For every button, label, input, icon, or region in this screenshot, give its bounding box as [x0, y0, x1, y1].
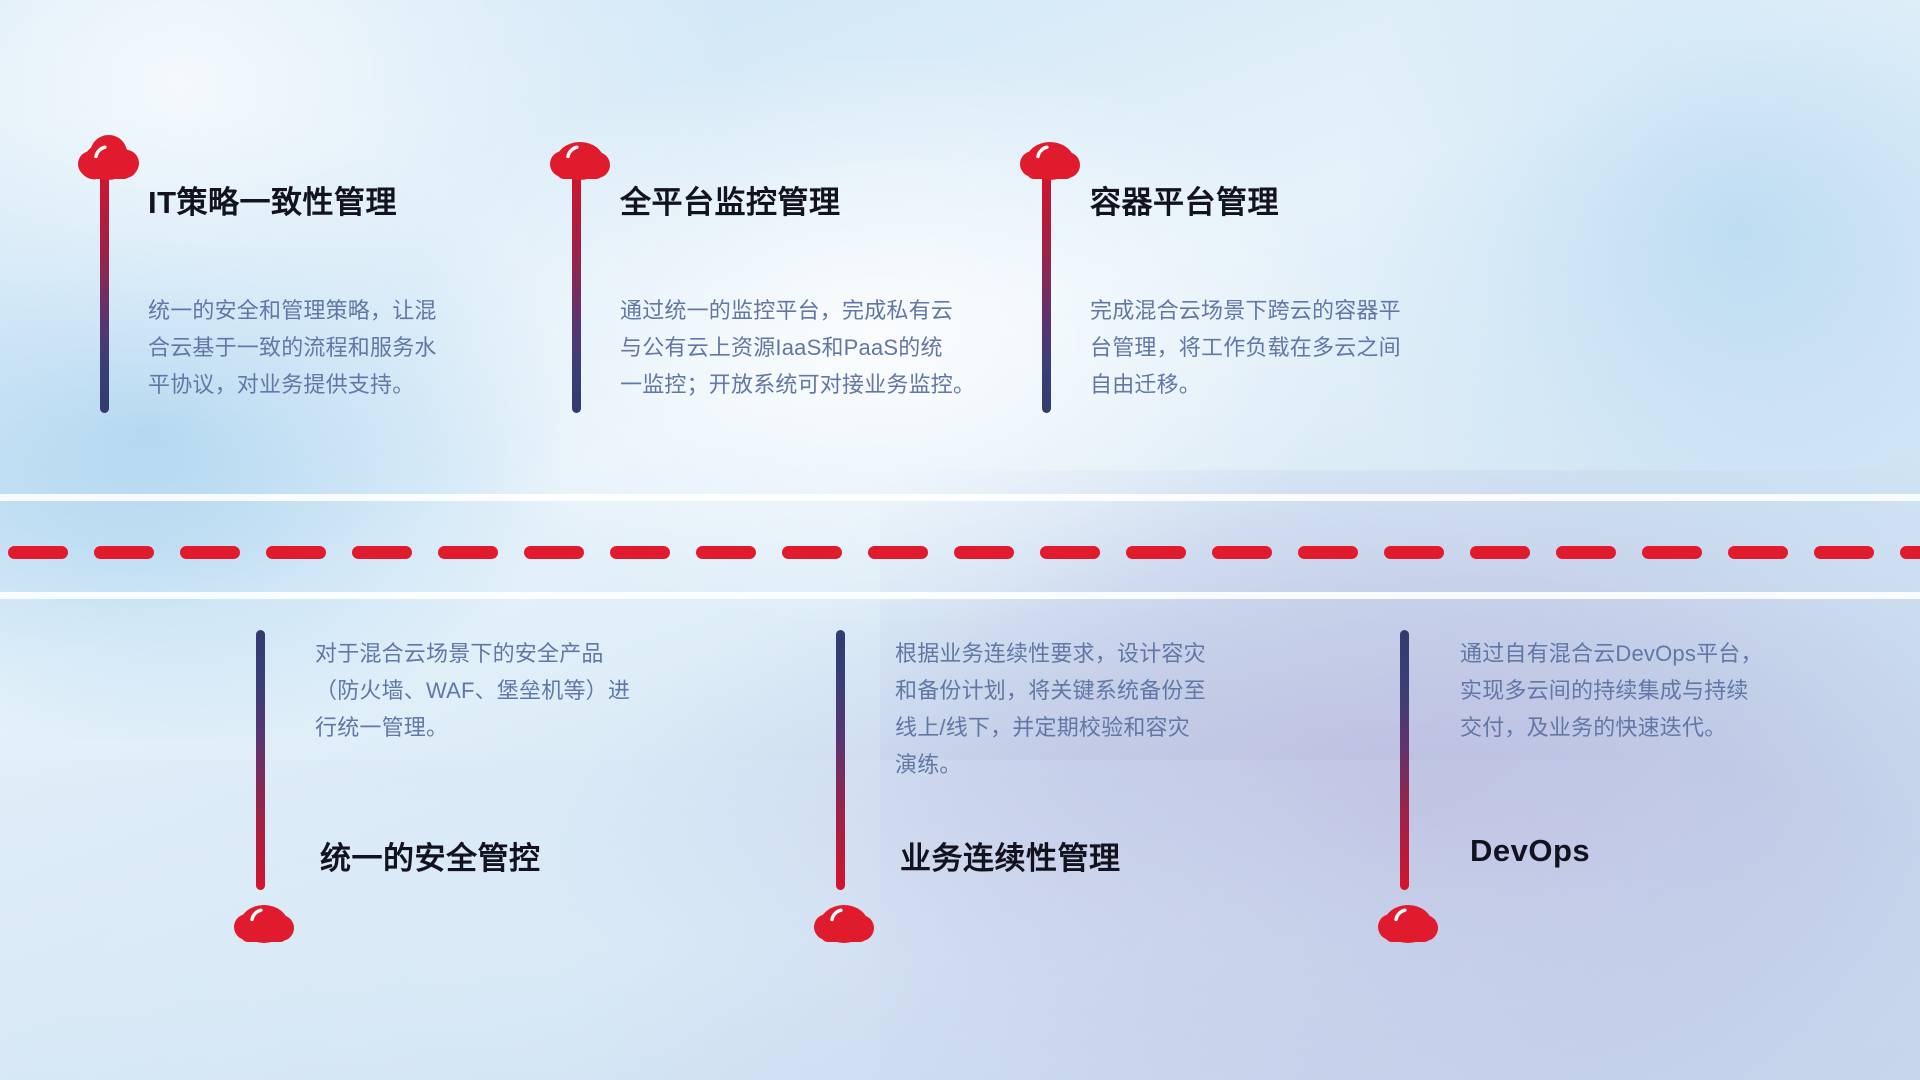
bottom-desc-2: 根据业务连续性要求，设计容灾 和备份计划，将关键系统备份至 线上/线下，并定期校… [895, 635, 1285, 783]
divider-dash [1384, 546, 1444, 559]
connector-bar-bottom-1 [256, 630, 265, 890]
divider-dash [1556, 546, 1616, 559]
desc-line: 合云基于一致的流程和服务水 [148, 329, 508, 366]
divider-dash [782, 546, 842, 559]
cloud-icon [811, 891, 877, 945]
desc-line: 演练。 [895, 746, 1285, 783]
divider-line-upper [0, 494, 1920, 501]
connector-bar-top-2 [572, 170, 581, 413]
desc-line: 完成混合云场景下跨云的容器平 [1090, 292, 1470, 329]
divider-line-lower [0, 592, 1920, 599]
divider-dash [610, 546, 670, 559]
desc-line: 实现多云间的持续集成与持续 [1460, 672, 1840, 709]
cloud-icon [1017, 128, 1083, 182]
desc-line: 一监控；开放系统可对接业务监控。 [620, 366, 1010, 403]
divider-dash [1298, 546, 1358, 559]
desc-line: 与公有云上资源IaaS和PaaS的统 [620, 329, 1010, 366]
divider-dash [180, 546, 240, 559]
bottom-title-3: DevOps [1470, 833, 1590, 869]
connector-bar-top-1 [100, 170, 109, 413]
divider-dash [352, 546, 412, 559]
bottom-desc-1: 对于混合云场景下的安全产品 （防火墙、WAF、堡垒机等）进 行统一管理。 [315, 635, 695, 746]
infographic-stage: IT策略一致性管理 统一的安全和管理策略，让混 合云基于一致的流程和服务水 平协… [0, 0, 1920, 1080]
cloud-icon [547, 128, 613, 182]
top-title-2: 全平台监控管理 [620, 177, 841, 222]
divider-dash [1470, 546, 1530, 559]
divider-dash [1900, 546, 1920, 559]
divider-dash [696, 546, 756, 559]
connector-bar-top-3 [1042, 170, 1051, 413]
desc-line: 和备份计划，将关键系统备份至 [895, 672, 1285, 709]
divider-dash [1040, 546, 1100, 559]
divider-dash [524, 546, 584, 559]
desc-line: 统一的安全和管理策略，让混 [148, 292, 508, 329]
desc-line: 台管理，将工作负载在多云之间 [1090, 329, 1470, 366]
divider-dash [266, 546, 326, 559]
desc-line: 对于混合云场景下的安全产品 [315, 635, 695, 672]
desc-line: 自由迁移。 [1090, 366, 1470, 403]
dashed-red-divider [0, 545, 1920, 559]
bottom-title-2: 业务连续性管理 [900, 833, 1121, 878]
cloud-icon [1375, 891, 1441, 945]
top-title-3: 容器平台管理 [1090, 177, 1279, 222]
connector-bar-bottom-2 [836, 630, 845, 890]
bottom-title-1: 统一的安全管控 [320, 833, 541, 878]
top-title-1: IT策略一致性管理 [148, 177, 397, 222]
connector-bar-bottom-3 [1400, 630, 1409, 890]
desc-line: 根据业务连续性要求，设计容灾 [895, 635, 1285, 672]
desc-line: 行统一管理。 [315, 709, 695, 746]
cloud-icon [231, 891, 297, 945]
divider-dash [1642, 546, 1702, 559]
desc-line: 通过统一的监控平台，完成私有云 [620, 292, 1010, 329]
divider-dash [868, 546, 928, 559]
desc-line: （防火墙、WAF、堡垒机等）进 [315, 672, 695, 709]
desc-line: 交付，及业务的快速迭代。 [1460, 709, 1840, 746]
desc-line: 通过自有混合云DevOps平台， [1460, 635, 1840, 672]
divider-dash [438, 546, 498, 559]
cloud-icon [75, 128, 141, 182]
bottom-desc-3: 通过自有混合云DevOps平台， 实现多云间的持续集成与持续 交付，及业务的快速… [1460, 635, 1840, 746]
divider-dash [1814, 546, 1874, 559]
top-desc-1: 统一的安全和管理策略，让混 合云基于一致的流程和服务水 平协议，对业务提供支持。 [148, 292, 508, 403]
top-desc-3: 完成混合云场景下跨云的容器平 台管理，将工作负载在多云之间 自由迁移。 [1090, 292, 1470, 403]
desc-line: 线上/线下，并定期校验和容灾 [895, 709, 1285, 746]
divider-dash [1212, 546, 1272, 559]
divider-dash [954, 546, 1014, 559]
desc-line: 平协议，对业务提供支持。 [148, 366, 508, 403]
divider-dash [1728, 546, 1788, 559]
top-desc-2: 通过统一的监控平台，完成私有云 与公有云上资源IaaS和PaaS的统 一监控；开… [620, 292, 1010, 403]
divider-dash [1126, 546, 1186, 559]
divider-dash [94, 546, 154, 559]
divider-dash [8, 546, 68, 559]
